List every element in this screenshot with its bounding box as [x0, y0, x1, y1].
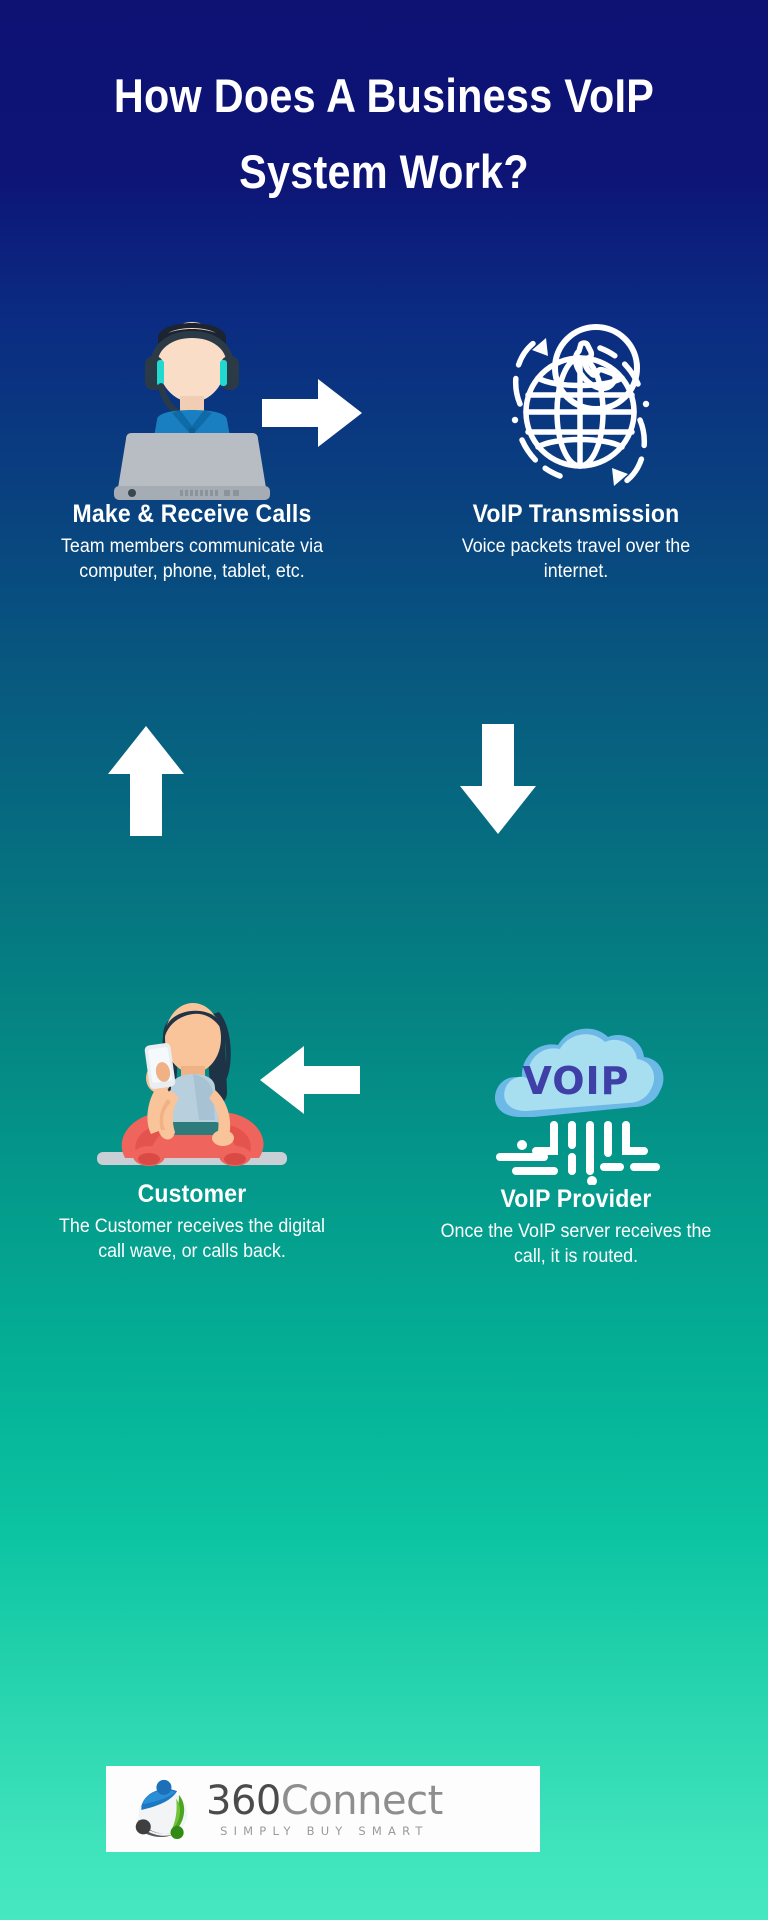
step-voip-transmission: VoIP Transmission Voice packets travel o…: [384, 290, 768, 584]
360connect-mark-icon: [130, 1778, 196, 1840]
page-title: How Does A Business VoIP System Work?: [0, 58, 768, 210]
step-heading: VoIP Provider: [399, 1185, 752, 1214]
globe-phone-icon: [384, 290, 768, 500]
step-heading: Make & Receive Calls: [15, 500, 368, 529]
page-title-line-2: System Work?: [108, 134, 661, 210]
arrow-up-icon: [108, 726, 184, 841]
arrow-down-icon: [460, 724, 536, 839]
brand-prefix: 360: [206, 1778, 281, 1824]
page-title-line-1: How Does A Business VoIP: [108, 58, 661, 134]
step-description: Team members communicate via computer, p…: [12, 534, 373, 584]
infographic-canvas: How Does A Business VoIP System Work?: [0, 0, 768, 1920]
step-description: Voice packets travel over the internet.: [396, 534, 757, 584]
arrow-right-icon: [262, 379, 362, 452]
brand-wordmark: 360Connect: [206, 1781, 443, 1821]
arrow-left-icon: [260, 1046, 360, 1119]
brand-logo[interactable]: 360Connect SIMPLY BUY SMART: [106, 1766, 540, 1852]
brand-tagline: SIMPLY BUY SMART: [206, 1824, 443, 1838]
step-description: The Customer receives the digital call w…: [12, 1214, 373, 1264]
voip-cloud-icon: VOIP: [384, 975, 768, 1185]
brand-suffix: Connect: [281, 1778, 443, 1824]
step-heading: VoIP Transmission: [399, 500, 752, 529]
svg-text:VOIP: VOIP: [522, 1059, 629, 1103]
step-description: Once the VoIP server receives the call, …: [396, 1219, 757, 1269]
step-voip-provider: VOIP VoIP Provider Once t: [384, 975, 768, 1269]
step-heading: Customer: [15, 1180, 368, 1209]
